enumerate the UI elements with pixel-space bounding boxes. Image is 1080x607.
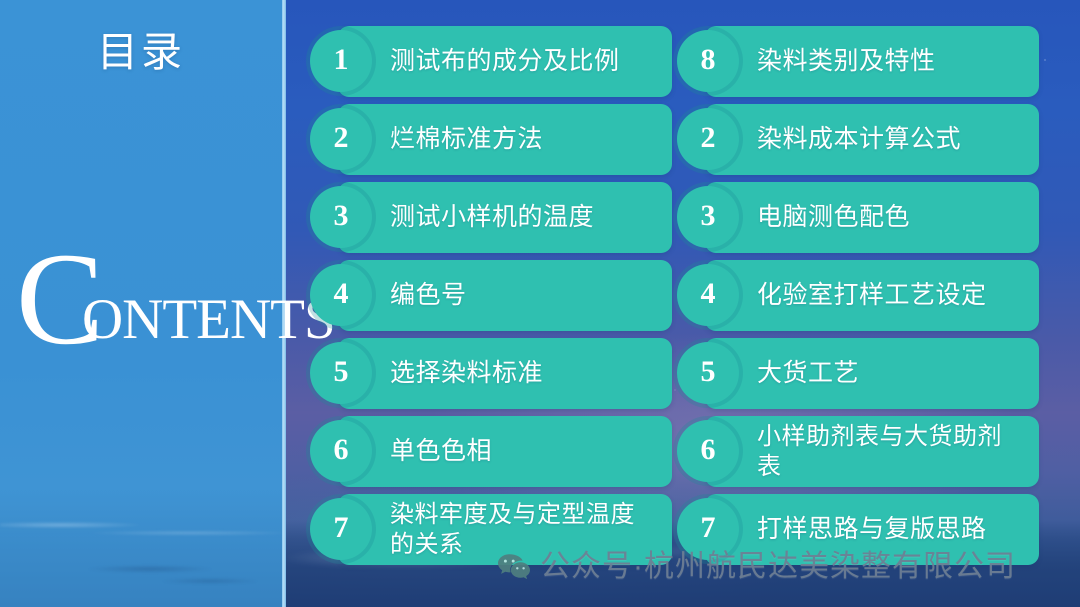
toc-item[interactable]: 2烂棉标准方法 (310, 104, 672, 175)
toc-item[interactable]: 4化验室打样工艺设定 (677, 260, 1039, 331)
toc-item-number: 1 (310, 30, 372, 92)
toc-item-label: 单色色相 (390, 416, 658, 487)
toc-item-number-badge: 4 (677, 264, 739, 326)
toc-item[interactable]: 3电脑测色配色 (677, 182, 1039, 253)
toc-item[interactable]: 2染料成本计算公式 (677, 104, 1039, 175)
toc-item-label: 大货工艺 (757, 338, 1025, 409)
toc-item-number-badge: 2 (677, 108, 739, 170)
toc-item-number: 6 (677, 420, 739, 482)
toc-item-label: 小样助剂表与大货助剂表 (757, 416, 1025, 487)
toc-column-right: 8染料类别及特性2染料成本计算公式3电脑测色配色4化验室打样工艺设定5大货工艺6… (677, 26, 1039, 572)
toc-item-label: 化验室打样工艺设定 (757, 260, 1025, 331)
toc-item[interactable]: 4编色号 (310, 260, 672, 331)
page-title: 目录 (0, 28, 282, 76)
toc-item-number-badge: 6 (677, 420, 739, 482)
toc-item-number-badge: 5 (310, 342, 372, 404)
toc-item-number-badge: 3 (310, 186, 372, 248)
toc-item[interactable]: 5选择染料标准 (310, 338, 672, 409)
toc-item-number-badge: 1 (310, 30, 372, 92)
toc-item-number-badge: 5 (677, 342, 739, 404)
toc-item-number: 5 (310, 342, 372, 404)
toc-item-number: 5 (677, 342, 739, 404)
toc-item-number: 3 (677, 186, 739, 248)
toc-item-number: 2 (310, 108, 372, 170)
toc-item-label: 电脑测色配色 (757, 182, 1025, 253)
presentation-slide: 目录 C ONTENTS 1测试布的成分及比例2烂棉标准方法3测试小样机的温度4… (0, 0, 1080, 607)
toc-item-number: 3 (310, 186, 372, 248)
watermark-text: 公众号·杭州航民达美染整有限公司 (540, 548, 1016, 586)
toc-item-number-badge: 4 (310, 264, 372, 326)
toc-item-number: 4 (310, 264, 372, 326)
toc-column-left: 1测试布的成分及比例2烂棉标准方法3测试小样机的温度4编色号5选择染料标准6单色… (310, 26, 672, 572)
toc-item-number: 2 (677, 108, 739, 170)
toc-item-number: 8 (677, 30, 739, 92)
toc-item-label: 测试布的成分及比例 (390, 26, 658, 97)
watermark: 公众号·杭州航民达美染整有限公司 (497, 548, 1016, 586)
toc-item-number-badge: 3 (677, 186, 739, 248)
toc-item[interactable]: 1测试布的成分及比例 (310, 26, 672, 97)
toc-item-number: 7 (310, 498, 372, 560)
contents-wordmark: C ONTENTS (8, 255, 282, 355)
left-panel-waves (0, 497, 282, 607)
toc-item-label: 编色号 (390, 260, 658, 331)
toc-columns: 1测试布的成分及比例2烂棉标准方法3测试小样机的温度4编色号5选择染料标准6单色… (285, 0, 1080, 607)
toc-item-label: 烂棉标准方法 (390, 104, 658, 175)
toc-item-label: 染料成本计算公式 (757, 104, 1025, 175)
toc-item-number: 6 (310, 420, 372, 482)
toc-item-number: 4 (677, 264, 739, 326)
toc-item-label: 选择染料标准 (390, 338, 658, 409)
toc-item-number-badge: 6 (310, 420, 372, 482)
toc-item[interactable]: 6小样助剂表与大货助剂表 (677, 416, 1039, 487)
toc-item[interactable]: 5大货工艺 (677, 338, 1039, 409)
toc-item-number-badge: 2 (310, 108, 372, 170)
toc-item-number-badge: 8 (677, 30, 739, 92)
toc-item-number-badge: 7 (310, 498, 372, 560)
toc-item[interactable]: 6单色色相 (310, 416, 672, 487)
toc-item[interactable]: 3测试小样机的温度 (310, 182, 672, 253)
wechat-icon (497, 553, 531, 581)
toc-item-label: 染料类别及特性 (757, 26, 1025, 97)
toc-item-label: 测试小样机的温度 (390, 182, 658, 253)
toc-item[interactable]: 8染料类别及特性 (677, 26, 1039, 97)
